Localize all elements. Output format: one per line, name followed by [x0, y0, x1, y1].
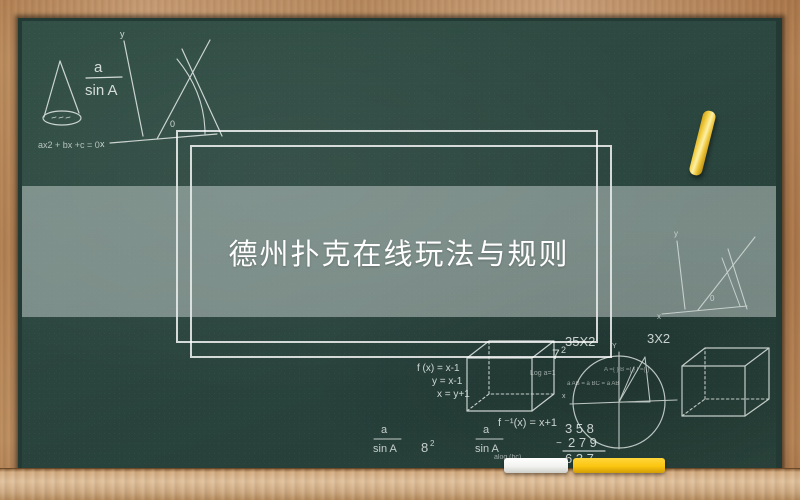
svg-text:a: a [483, 424, 490, 436]
svg-text:x: x [562, 393, 566, 400]
chalk-fraction-bottom-2: a sin A [475, 424, 503, 455]
chalk-quadratic: ax2 + bx +c = 0 [38, 140, 100, 150]
chalk-fraction-bottom-1: a sin A [373, 424, 401, 455]
svg-text:a: a [381, 424, 388, 436]
svg-text:y = x-1: y = x-1 [432, 376, 463, 387]
svg-text:sin A: sin A [85, 82, 118, 99]
yellow-chalk-stick [688, 109, 717, 176]
chalk-cube-right [682, 348, 769, 416]
svg-text:2 7 9: 2 7 9 [568, 435, 597, 450]
svg-text:−: − [556, 438, 562, 449]
chalk-fraction-a-sina: a sin A [85, 59, 122, 99]
white-chalk-piece [504, 458, 568, 473]
title-overlay-band: 德州扑克在线玩法与规则 [22, 186, 776, 317]
chalk-small-equation: a AB = a BC = a AB [567, 381, 619, 387]
chalk-8-squared: 8 [421, 440, 428, 455]
chalk-inverse-function: f ⁻¹(x) = x+1 [498, 417, 557, 429]
svg-text:a: a [94, 59, 103, 76]
chalk-8-exponent: 2 [430, 439, 435, 448]
chalkboard-banner: a sin A ax2 + bx +c = 0 y x 0 [0, 0, 800, 500]
svg-text:f (x) = x-1: f (x) = x-1 [417, 363, 460, 374]
svg-text:Y: Y [612, 343, 617, 350]
svg-text:3 5 8: 3 5 8 [565, 421, 594, 436]
svg-text:x = y+1: x = y+1 [437, 389, 470, 400]
chalk-log-note: Log a=1 [530, 370, 556, 377]
svg-text:x: x [100, 139, 105, 149]
svg-text:y: y [120, 29, 125, 39]
svg-text:0: 0 [170, 119, 175, 129]
svg-text:sin A: sin A [475, 443, 500, 455]
svg-text:sin A: sin A [373, 443, 398, 455]
chalk-label-3x2: 3X2 [647, 331, 670, 346]
page-title: 德州扑克在线玩法与规则 [228, 231, 569, 273]
chalk-set-note: A ={ } B ={ } I ={ } [604, 367, 649, 373]
yellow-chalk-piece [573, 458, 665, 473]
chalk-tray-ledge [0, 468, 800, 500]
chalk-circle-angle: x Y [562, 343, 677, 449]
chalk-function-equations: f (x) = x-1 y = x-1 x = y+1 [417, 363, 470, 400]
chalk-cone [43, 61, 81, 125]
chalkboard-surface: a sin A ax2 + bx +c = 0 y x 0 [22, 21, 776, 471]
